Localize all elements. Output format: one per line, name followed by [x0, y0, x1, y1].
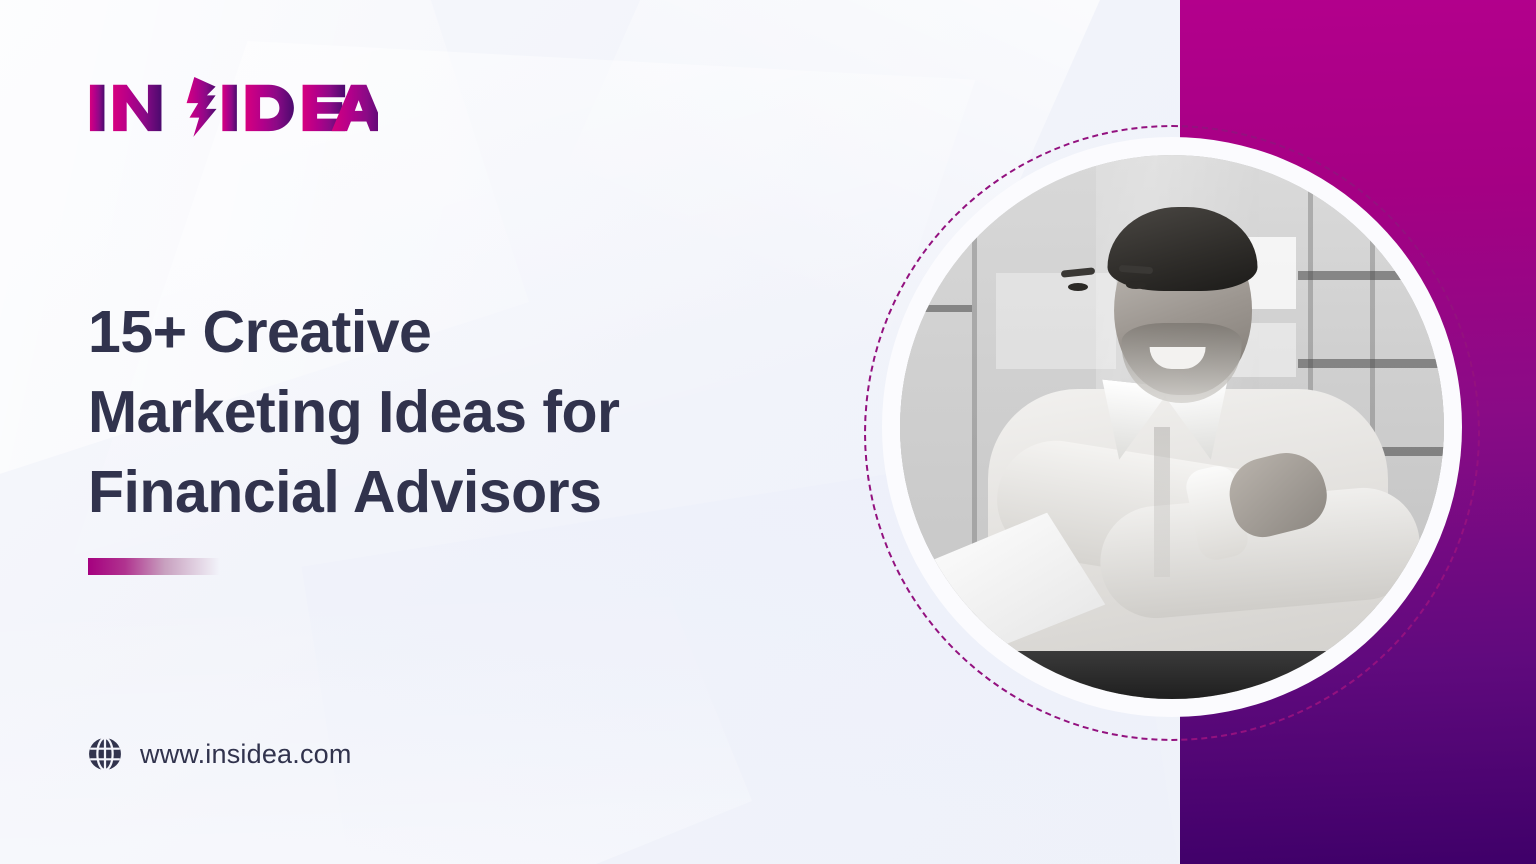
headline-line-2: Marketing Ideas for	[88, 372, 748, 452]
insidea-logo[interactable]	[88, 74, 378, 138]
hero-photo	[900, 155, 1444, 699]
hero-photo-ring	[882, 137, 1462, 717]
headline-line-3: Financial Advisors	[88, 452, 748, 532]
office-shelf	[1298, 359, 1444, 368]
banner-canvas: 15+ Creative Marketing Ideas for Financi…	[0, 0, 1536, 864]
globe-icon	[88, 737, 122, 771]
office-shelf	[1298, 271, 1444, 280]
desk-surface	[900, 651, 1444, 699]
person-eye	[1126, 281, 1146, 289]
person-eye	[1068, 283, 1088, 291]
gradient-rule-divider	[88, 558, 220, 575]
website-url[interactable]: www.insidea.com	[140, 739, 352, 770]
shirt-placket	[1154, 427, 1170, 577]
footer-website[interactable]: www.insidea.com	[88, 737, 352, 771]
office-window-light	[996, 273, 1116, 369]
office-shelf	[912, 305, 972, 312]
page-title: 15+ Creative Marketing Ideas for Financi…	[88, 292, 748, 532]
headline-line-1: 15+ Creative	[88, 292, 748, 372]
